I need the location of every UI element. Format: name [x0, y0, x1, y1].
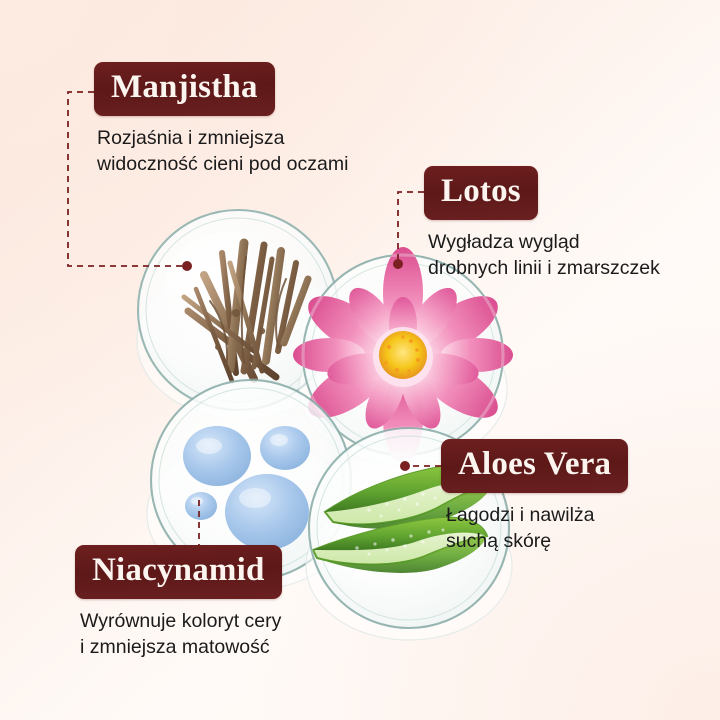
callout-niacynamid: Niacynamid Wyrównuje koloryt cery i zmni… [75, 545, 282, 661]
ingredient-badge-lotos[interactable]: Lotos [424, 166, 538, 220]
ingredient-badge-aloes-vera[interactable]: Aloes Vera [441, 439, 628, 493]
ingredient-description-lotos: Wygładza wygląd drobnych linii i zmarszc… [428, 229, 660, 282]
ingredient-badge-manjistha[interactable]: Manjistha [94, 62, 275, 116]
callout-lotos: Lotos Wygładza wygląd drobnych linii i z… [424, 166, 660, 282]
callout-manjistha: Manjistha Rozjaśnia i zmniejsza widoczno… [94, 62, 348, 178]
ingredient-description-manjistha: Rozjaśnia i zmniejsza widoczność cieni p… [97, 125, 348, 178]
ingredient-infographic: Manjistha Rozjaśnia i zmniejsza widoczno… [0, 0, 720, 720]
ingredient-description-aloes-vera: Łagodzi i nawilża suchą skórę [446, 502, 628, 555]
ingredient-description-niacynamid: Wyrównuje koloryt cery i zmniejsza matow… [80, 608, 282, 661]
ingredient-badge-niacynamid[interactable]: Niacynamid [75, 545, 282, 599]
callout-aloes-vera: Aloes Vera Łagodzi i nawilża suchą skórę [441, 439, 628, 555]
